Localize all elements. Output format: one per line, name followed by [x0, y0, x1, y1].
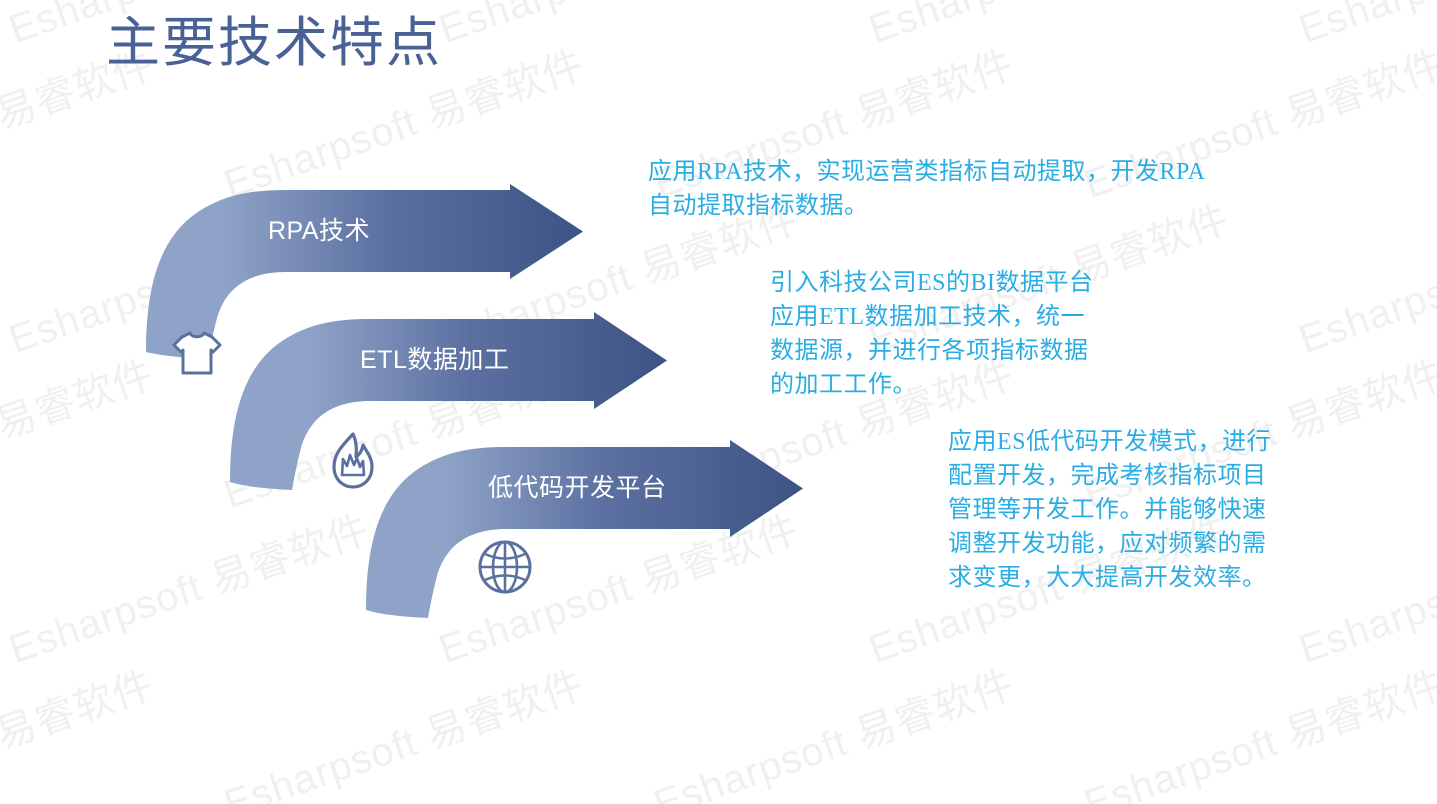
arrow-lowcode-shape	[348, 440, 848, 618]
watermark-text: Esharpsoft 易睿软件	[430, 0, 806, 55]
watermark-text: Esharpsoft 易睿软件	[1290, 0, 1437, 55]
arrow-lowcode[interactable]: 低代码开发平台	[348, 440, 848, 618]
watermark-text: Esharpsoft 易睿软件	[1075, 652, 1437, 804]
slide-canvas: Esharpsoft 易睿软件Esharpsoft 易睿软件Esharpsoft…	[0, 0, 1437, 804]
page-title: 主要技术特点	[106, 14, 442, 73]
arrow-etl-label: ETL数据加工	[360, 340, 509, 376]
flame-icon	[326, 431, 380, 496]
watermark-text: Esharpsoft 易睿软件	[1290, 187, 1437, 365]
globe-icon	[476, 538, 534, 601]
watermark-text: Esharpsoft 易睿软件	[215, 652, 591, 804]
watermark-text: Esharpsoft 易睿软件	[860, 0, 1236, 55]
description-rpa: 应用RPA技术，实现运营类指标自动提取，开发RPA自动提取指标数据。	[648, 155, 1228, 223]
arrow-lowcode-label: 低代码开发平台	[488, 468, 667, 504]
watermark-text: Esharpsoft 易睿软件	[0, 497, 376, 675]
arrow-rpa-label: RPA技术	[268, 211, 370, 247]
watermark-text: Esharpsoft 易睿软件	[0, 652, 161, 804]
description-etl: 引入科技公司ES的BI数据平台 应用ETL数据加工技术，统一 数据源，并进行各项…	[770, 266, 1210, 402]
tshirt-icon	[167, 323, 227, 388]
description-lowcode: 应用ES低代码开发模式，进行 配置开发，完成考核指标项目 管理等开发工作。并能够…	[948, 425, 1338, 595]
watermark-text: Esharpsoft 易睿软件	[0, 342, 161, 520]
watermark-text: Esharpsoft 易睿软件	[645, 652, 1021, 804]
